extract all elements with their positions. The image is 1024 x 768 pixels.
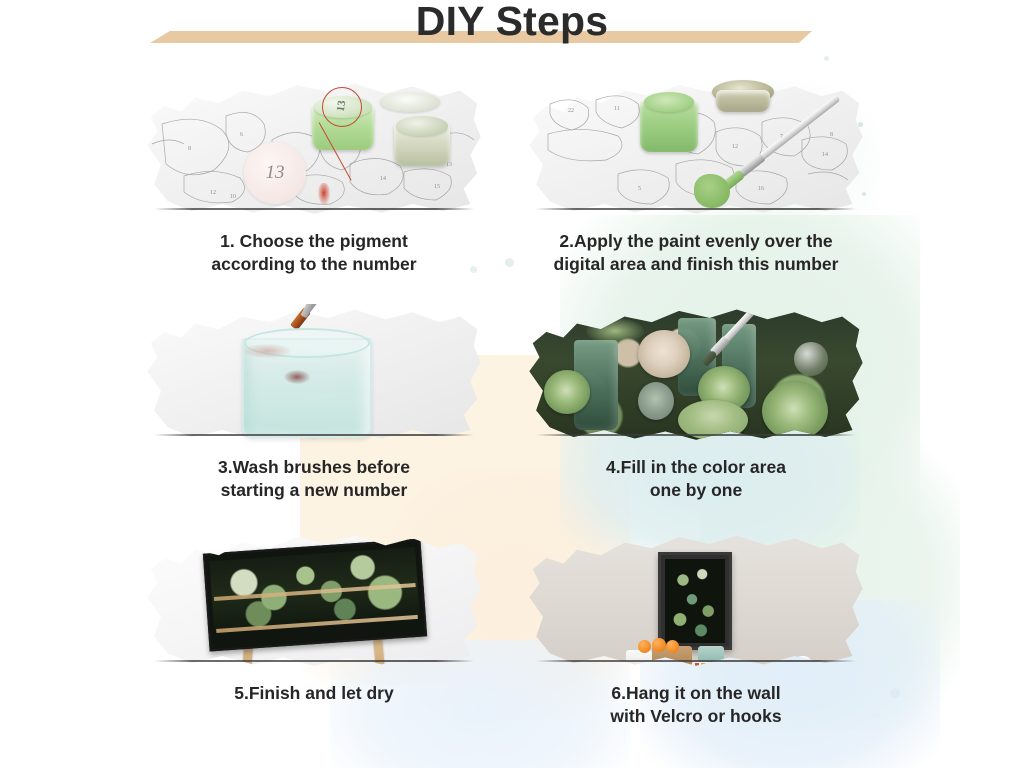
finished-painting-canvas xyxy=(203,539,427,652)
magnified-number-badge: 13 xyxy=(244,142,306,204)
pigment-pot-lid xyxy=(396,116,448,136)
torn-paper-edge xyxy=(536,208,856,210)
swatch xyxy=(719,663,723,670)
step-5-photo xyxy=(144,530,484,670)
svg-text:8: 8 xyxy=(830,132,833,138)
step-3-caption-line-2: starting a new number xyxy=(124,479,504,502)
step-6-caption-line-1: 6.Hang it on the wall xyxy=(506,682,886,705)
orange-fruit xyxy=(638,640,651,653)
swatch xyxy=(737,663,741,670)
glass-ornament xyxy=(794,342,828,376)
svg-text:12: 12 xyxy=(732,144,738,150)
step-card-6: 6.Hang it on the wall with Velcro or hoo… xyxy=(506,530,886,728)
step-5-caption-line-1: 5.Finish and let dry xyxy=(124,682,504,705)
step-1-caption-line-2: according to the number xyxy=(124,253,504,276)
framed-painting xyxy=(658,552,732,650)
orange-fruit-3 xyxy=(666,640,679,653)
succulent-rosette-3 xyxy=(762,382,828,440)
step-4-illustration xyxy=(526,304,866,444)
torn-paper-edge xyxy=(536,660,856,662)
step-card-5: 5.Finish and let dry xyxy=(124,530,504,705)
hanging-foliage xyxy=(586,318,644,344)
svg-text:14: 14 xyxy=(822,152,828,158)
step-6-caption: 6.Hang it on the wall with Velcro or hoo… xyxy=(506,682,886,728)
step-3-illustration xyxy=(144,304,484,444)
applied-paint-blob xyxy=(694,174,730,208)
step-6-caption-line-2: with Velcro or hooks xyxy=(506,705,886,728)
paint-swatch-strip xyxy=(692,662,746,670)
framed-artwork xyxy=(665,559,725,643)
step-2-photo: 22 11 9 12 7 14 6 16 5 8 4 xyxy=(526,78,866,218)
svg-text:22: 22 xyxy=(568,108,574,114)
step-3-caption-line-1: 3.Wash brushes before xyxy=(124,456,504,479)
step-2-caption: 2.Apply the paint evenly over the digita… xyxy=(506,230,886,276)
page-title: DIY Steps xyxy=(0,0,1024,45)
swatch xyxy=(725,663,729,670)
swatch xyxy=(701,663,705,670)
paint-residue xyxy=(284,370,310,384)
step-1-illustration: 8 6 9 7 14 11 15 12 5 10 23 xyxy=(144,78,484,218)
pigment-pot-opening xyxy=(644,92,694,112)
steps-row-2: 3.Wash brushes before starting a new num… xyxy=(0,304,1024,530)
background-dot xyxy=(824,56,829,61)
step-5-illustration xyxy=(144,530,484,670)
step-2-caption-line-2: digital area and finish this number xyxy=(506,253,886,276)
swatch xyxy=(695,663,699,670)
step-6-illustration xyxy=(526,530,866,670)
pigment-pot-lid-partial xyxy=(380,92,440,112)
steps-grid: 8 6 9 7 14 11 15 12 5 10 23 xyxy=(0,78,1024,756)
torn-paper-edge xyxy=(154,208,474,210)
swatch xyxy=(707,663,711,670)
step-6-photo xyxy=(526,530,866,670)
step-1-caption-line-1: 1. Choose the pigment xyxy=(124,230,504,253)
svg-text:10: 10 xyxy=(230,194,236,200)
steps-row-3: 5.Finish and let dry xyxy=(0,530,1024,756)
callout-circle xyxy=(322,87,362,127)
paint-trail xyxy=(244,344,290,358)
steps-row-1: 8 6 9 7 14 11 15 12 5 10 23 xyxy=(0,78,1024,304)
step-4-caption: 4.Fill in the color area one by one xyxy=(506,456,886,502)
torn-paper-edge xyxy=(536,434,856,436)
step-5-caption: 5.Finish and let dry xyxy=(124,682,504,705)
diy-steps-infographic: DIY Steps xyxy=(0,0,1024,768)
paint-drip xyxy=(318,183,330,205)
torn-paper-edge xyxy=(154,660,474,662)
step-3-photo xyxy=(144,304,484,444)
succulent-rosette-5 xyxy=(638,382,674,420)
swatch xyxy=(713,663,717,670)
step-2-caption-line-1: 2.Apply the paint evenly over the xyxy=(506,230,886,253)
step-4-photo xyxy=(526,304,866,444)
torn-paper-edge xyxy=(154,434,474,436)
step-card-3: 3.Wash brushes before starting a new num… xyxy=(124,304,504,502)
svg-text:6: 6 xyxy=(240,132,243,138)
svg-text:11: 11 xyxy=(614,106,620,112)
step-4-caption-line-2: one by one xyxy=(506,479,886,502)
svg-text:12: 12 xyxy=(210,190,216,196)
svg-text:8: 8 xyxy=(188,146,191,152)
orange-fruit-2 xyxy=(652,638,666,652)
svg-text:14: 14 xyxy=(380,176,386,182)
swatch xyxy=(731,663,735,670)
step-card-4: 4.Fill in the color area one by one xyxy=(506,304,886,502)
step-3-caption: 3.Wash brushes before starting a new num… xyxy=(124,456,504,502)
pale-succulent-rosette xyxy=(638,330,690,378)
step-4-caption-line-1: 4.Fill in the color area xyxy=(506,456,886,479)
step-1-caption: 1. Choose the pigment according to the n… xyxy=(124,230,504,276)
step-2-illustration: 22 11 9 12 7 14 6 16 5 8 4 xyxy=(526,78,866,218)
step-card-1: 8 6 9 7 14 11 15 12 5 10 23 xyxy=(124,78,504,276)
succulent-rosette xyxy=(544,370,590,414)
svg-text:16: 16 xyxy=(758,186,764,192)
step-card-2: 22 11 9 12 7 14 6 16 5 8 4 xyxy=(506,78,886,276)
pigment-pot-olive-body xyxy=(716,90,770,112)
step-1-photo: 8 6 9 7 14 11 15 12 5 10 23 xyxy=(144,78,484,218)
counter-surface xyxy=(646,668,796,670)
svg-text:15: 15 xyxy=(434,184,440,190)
svg-text:5: 5 xyxy=(638,186,641,192)
white-vase xyxy=(794,656,812,670)
